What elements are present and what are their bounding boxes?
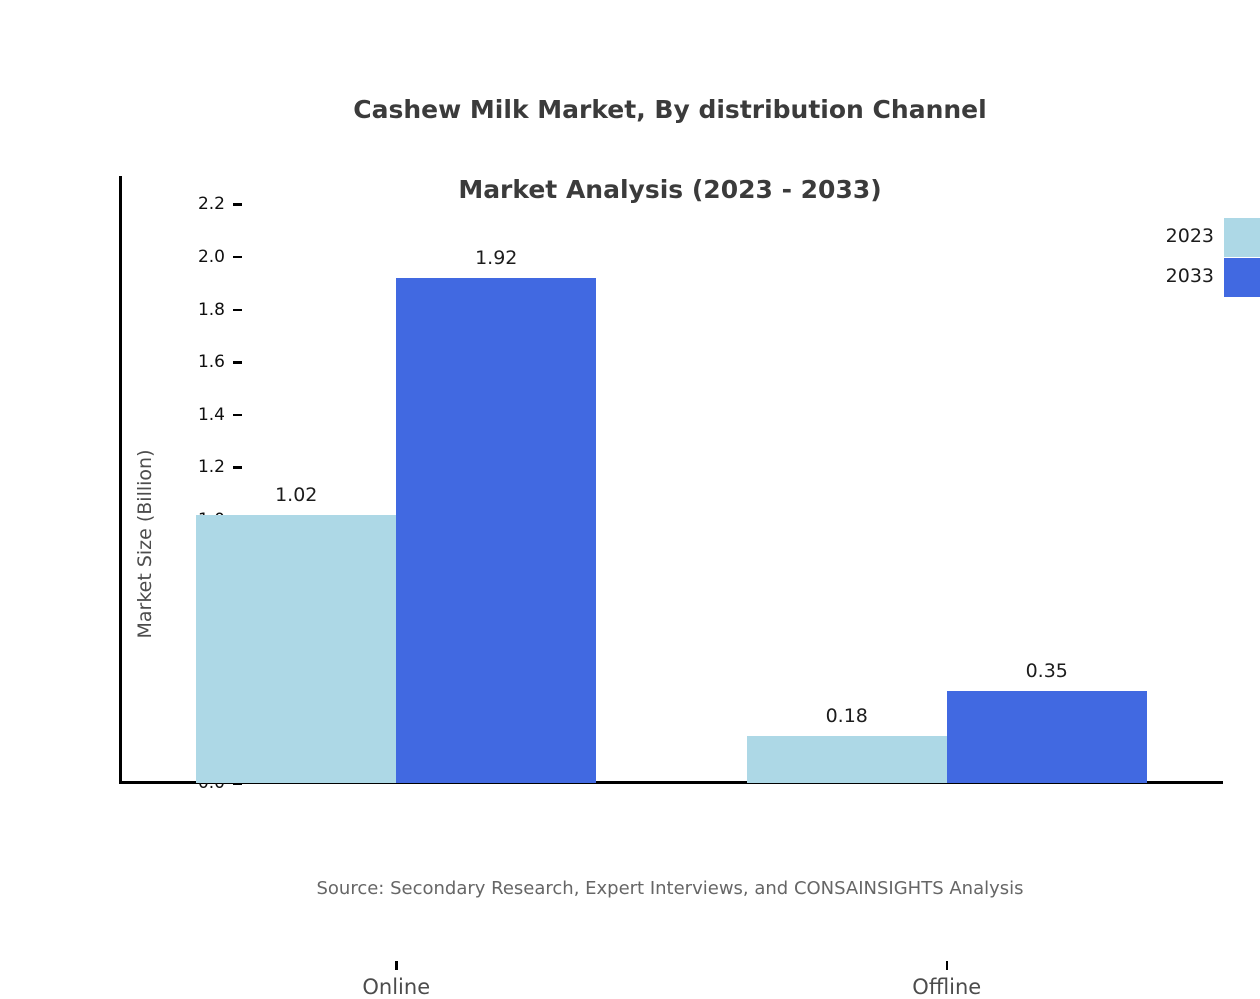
bar-online-2023[interactable]: 1.02 <box>196 515 396 783</box>
x-axis-tick-mark <box>946 961 949 970</box>
bar-value-label: 0.35 <box>1026 660 1068 682</box>
bar-online-2033[interactable]: 1.92 <box>396 278 596 783</box>
plot-area: Market Size (Billion) 0.00.20.40.60.81.0… <box>121 178 1222 783</box>
y-axis-tick-label: 1.4 <box>121 404 225 426</box>
legend-item-2033[interactable]: 2033 <box>1136 258 1260 298</box>
y-axis-tick-label: 2.2 <box>121 193 225 215</box>
chart-title-line-1: Cashew Milk Market, By distribution Chan… <box>0 90 1260 130</box>
y-axis-tick-label: 1.2 <box>121 456 225 478</box>
x-axis-tick-label: Offline <box>797 975 1097 999</box>
legend-item-label: 2033 <box>1136 265 1214 287</box>
y-axis-tick-mark <box>233 309 242 312</box>
y-axis-tick-mark <box>233 203 242 206</box>
x-axis-tick-mark <box>395 961 398 970</box>
legend-color-swatch <box>1224 218 1260 257</box>
bar-offline-2033[interactable]: 0.35 <box>947 691 1147 783</box>
y-axis-tick-label: 1.6 <box>121 351 225 373</box>
x-axis-tick-label: Online <box>246 975 546 999</box>
bar-value-label: 1.92 <box>475 247 517 269</box>
legend-color-swatch <box>1224 258 1260 297</box>
bar-offline-2023[interactable]: 0.18 <box>747 736 947 783</box>
y-axis-tick-mark <box>233 414 242 417</box>
legend: 20232033 <box>1136 218 1260 298</box>
source-note: Source: Secondary Research, Expert Inter… <box>0 878 1260 899</box>
bar-value-label: 1.02 <box>275 484 317 506</box>
bar-value-label: 0.18 <box>826 705 868 727</box>
legend-item-label: 2023 <box>1136 225 1214 247</box>
y-axis-tick-mark <box>233 361 242 364</box>
y-axis-tick-mark <box>233 466 242 469</box>
y-axis-tick-label: 2.0 <box>121 246 225 268</box>
y-axis-tick-mark <box>233 256 242 259</box>
y-axis-tick-label: 1.8 <box>121 299 225 321</box>
legend-item-2023[interactable]: 2023 <box>1136 218 1260 258</box>
